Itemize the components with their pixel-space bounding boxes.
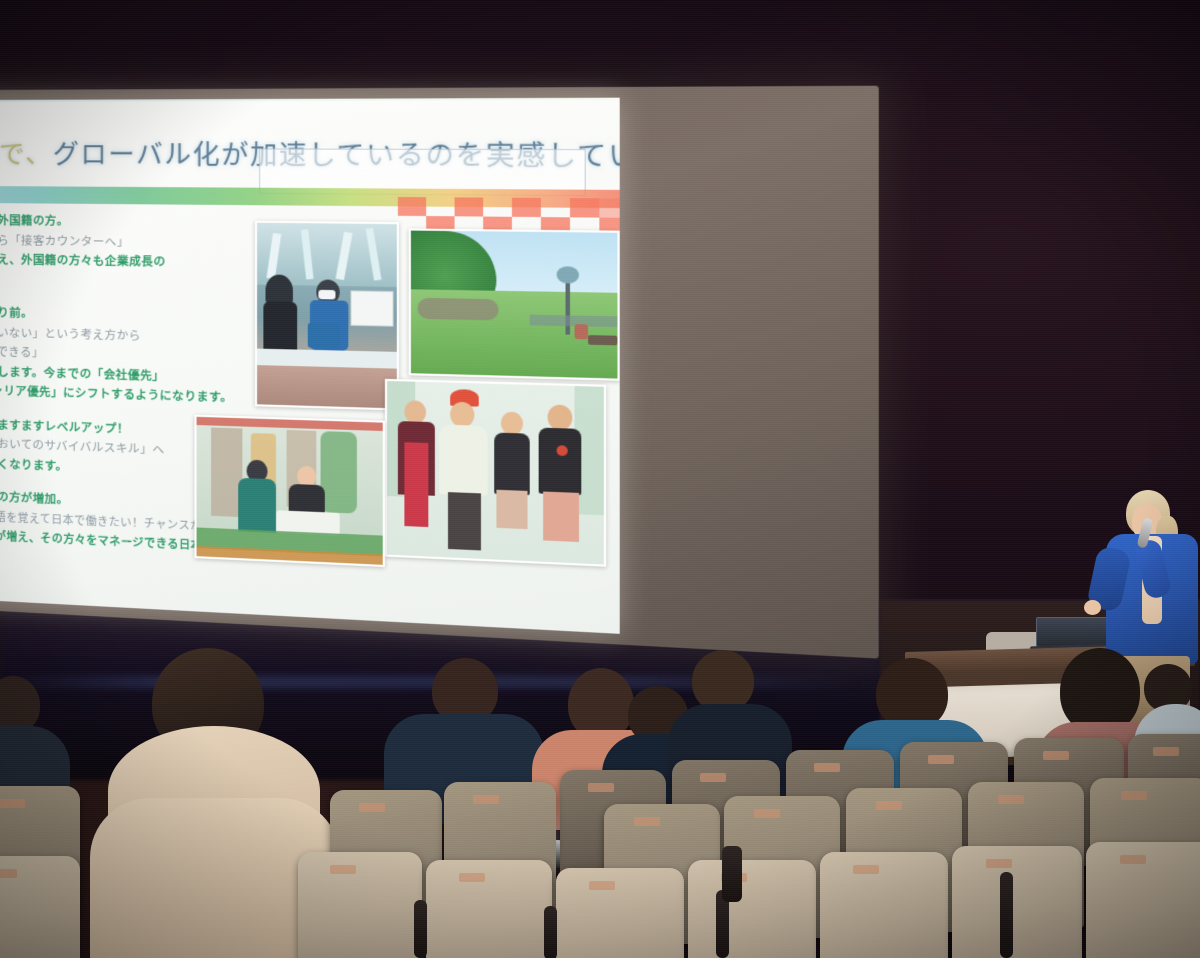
presenter-left-hand xyxy=(1084,600,1101,615)
photo-tv-interview xyxy=(194,415,384,567)
photo-park-riverside xyxy=(409,228,620,380)
seat xyxy=(820,852,948,958)
seat xyxy=(1086,842,1200,958)
photo-group-people xyxy=(385,379,606,567)
armrest xyxy=(1000,872,1013,958)
projected-slide: 年間で、グローバル化が加速しているのを実感しています！ ロの３％が外国籍の方。 … xyxy=(0,98,620,634)
seat xyxy=(426,860,552,958)
photo-shop-counter xyxy=(255,221,399,411)
seat xyxy=(688,860,816,958)
armrest xyxy=(414,900,427,958)
seat xyxy=(298,852,422,958)
seat xyxy=(0,856,80,958)
armrest xyxy=(722,846,742,902)
slide-title-prefix: 年間で、 xyxy=(0,139,53,169)
armrest xyxy=(544,906,557,958)
projection-screen: 年間で、グローバル化が加速しているのを実感しています！ ロの３％が外国籍の方。 … xyxy=(0,50,896,679)
seat xyxy=(952,846,1082,958)
auditorium-photo: 年間で、グローバル化が加速しているのを実感しています！ ロの３％が外国籍の方。 … xyxy=(0,0,1200,958)
seat xyxy=(556,868,684,958)
